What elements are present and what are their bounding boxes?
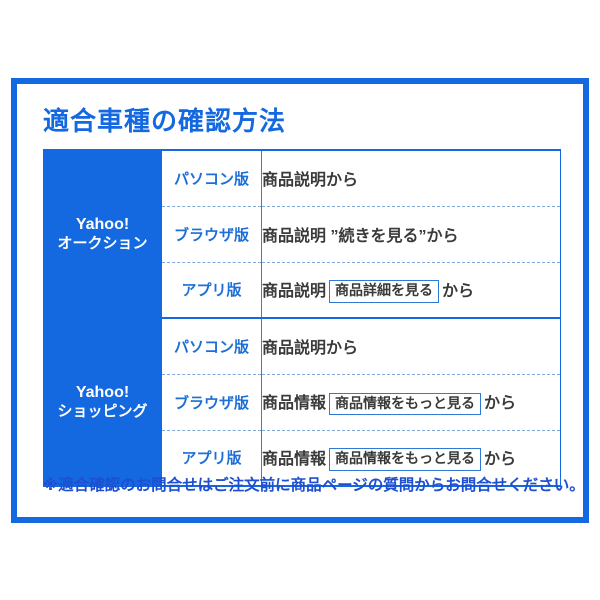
version-label-pc: パソコン版 [162,150,262,206]
inline-button-more-info[interactable]: 商品情報をもっと見る [329,448,481,471]
table-row: Yahoo! オークション パソコン版 商品説明から [44,150,561,206]
blue-frame-border: 適合車種の確認方法 Yahoo! オークション パソコン版 商品説明から [11,78,589,523]
group-brand-label: Yahoo! [44,215,161,235]
version-label-browser: ブラウザ版 [162,374,262,430]
page-title: 適合車種の確認方法 [43,101,286,138]
inline-button-item-detail[interactable]: 商品詳細を見る [329,280,439,303]
footnote-text: ※適合確認のお問合せはご注文前に商品ページの質問からお問合せください。 [43,473,585,495]
description-cell: 商品説明から [262,150,561,206]
group-header-auction: Yahoo! オークション [44,150,162,318]
description-cell: 商品情報商品情報をもっと見るから [262,374,561,430]
inline-button-more-info[interactable]: 商品情報をもっと見る [329,393,481,416]
desc-text-before: 商品情報 [262,395,326,412]
version-label-pc: パソコン版 [162,318,262,374]
compatibility-table: Yahoo! オークション パソコン版 商品説明から ブラウザ版 商品説明 ”続… [43,149,561,487]
group-service-label: ショッピング [44,403,161,422]
version-label-app: アプリ版 [162,262,262,318]
group-header-shopping: Yahoo! ショッピング [44,318,162,486]
desc-text-after: から [484,451,516,468]
table-row: Yahoo! ショッピング パソコン版 商品説明から [44,318,561,374]
desc-text-after: から [484,395,516,412]
group-brand-label: Yahoo! [44,383,161,403]
desc-text-before: 商品説明から [262,172,358,189]
description-cell: 商品説明から [262,318,561,374]
version-label-browser: ブラウザ版 [162,206,262,262]
desc-text-before: 商品説明 [262,283,326,300]
screenshot-root: 適合車種の確認方法 Yahoo! オークション パソコン版 商品説明から [0,0,600,600]
description-cell: 商品説明 ”続きを見る”から [262,206,561,262]
desc-text-before: 商品説明から [262,340,358,357]
content-panel: 適合車種の確認方法 Yahoo! オークション パソコン版 商品説明から [17,84,583,517]
desc-text-after: から [442,283,474,300]
description-cell: 商品説明商品詳細を見るから [262,262,561,318]
desc-text-before: 商品説明 ”続きを見る”から [262,228,458,245]
group-service-label: オークション [44,235,161,254]
desc-text-before: 商品情報 [262,451,326,468]
